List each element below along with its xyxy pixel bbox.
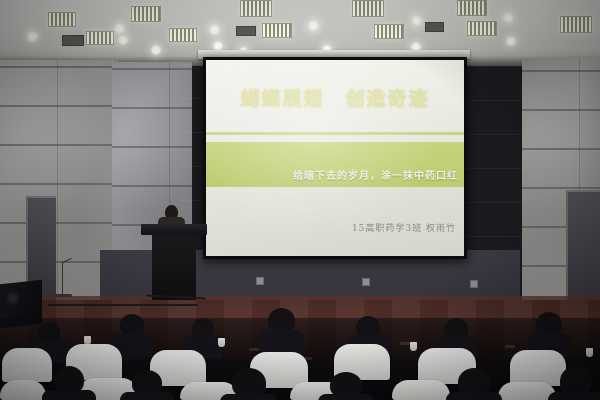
ceiling-downlight <box>506 36 516 46</box>
microphone-base <box>54 294 72 297</box>
chair-cover <box>510 350 566 386</box>
right-doorway <box>566 190 600 304</box>
ceiling-troffer-light <box>352 0 384 17</box>
ceiling-downlight <box>209 24 220 35</box>
chair-cover <box>2 348 52 382</box>
ceiling-downlight <box>503 12 514 23</box>
ceiling-troffer-light <box>86 31 114 45</box>
slide-subtitle: 给暗下去的岁月，涂一抹中药口红 <box>293 167 458 182</box>
ceiling-downlight <box>151 45 161 55</box>
ceiling-troffer-light <box>169 28 197 42</box>
audience-shoulders <box>120 392 174 400</box>
ceiling-downlight <box>411 15 422 26</box>
ceiling-vent <box>62 35 84 46</box>
speaker-cone <box>6 292 19 305</box>
ceiling-troffer-light <box>560 16 592 33</box>
slide-green-band: 给暗下去的岁月，涂一抹中药口红 <box>206 142 464 187</box>
presentation-slide: 蝴蝶展翅 创造奇迹 给暗下去的岁月，涂一抹中药口红 15高职药学3班 权雨竹 <box>206 60 464 256</box>
projection-screen: 蝴蝶展翅 创造奇迹 给暗下去的岁月，涂一抹中药口红 15高职药学3班 权雨竹 <box>203 57 467 259</box>
ceiling-downlight <box>308 20 319 31</box>
paper-cup <box>410 342 417 351</box>
slide-accent-line <box>206 132 464 135</box>
wall-socket <box>256 277 264 285</box>
slide-byline: 15高职药学3班 权雨竹 <box>352 221 456 234</box>
ceiling-downlight <box>118 35 128 45</box>
auditorium-photo: 蝴蝶展翅 创造奇迹 给暗下去的岁月，涂一抹中药口红 15高职药学3班 权雨竹 <box>0 0 600 400</box>
wall-socket <box>362 278 370 286</box>
chair-cover <box>392 380 450 400</box>
wall-socket <box>470 280 478 288</box>
audience-shoulders <box>259 330 304 354</box>
ceiling-troffer-light <box>374 24 404 39</box>
audience-shoulders <box>42 390 96 400</box>
ceiling-troffer-light <box>131 6 161 22</box>
podium-top <box>141 224 207 235</box>
audience-shoulders <box>446 392 502 400</box>
ceiling-vent <box>425 22 444 32</box>
ceiling-downlight <box>114 23 125 34</box>
chair-cover <box>0 380 46 400</box>
paper-cup <box>218 338 225 347</box>
ceiling-troffer-light <box>467 21 497 36</box>
floor-cable <box>48 304 198 306</box>
audience-shoulders <box>548 392 600 400</box>
paper-cup <box>586 348 593 357</box>
microphone-stand <box>62 262 63 296</box>
slide-title: 蝴蝶展翅 创造奇迹 <box>206 84 464 111</box>
ceiling-troffer-light <box>48 12 76 27</box>
ceiling-troffer-light <box>457 0 487 16</box>
ceiling-downlight <box>27 31 38 42</box>
podium-base <box>152 228 196 300</box>
ceiling-troffer-light <box>262 23 292 38</box>
audience-shoulders <box>318 394 374 400</box>
audience-shoulders <box>220 394 278 400</box>
ceiling-vent <box>236 26 256 36</box>
ceiling-troffer-light <box>240 0 272 17</box>
